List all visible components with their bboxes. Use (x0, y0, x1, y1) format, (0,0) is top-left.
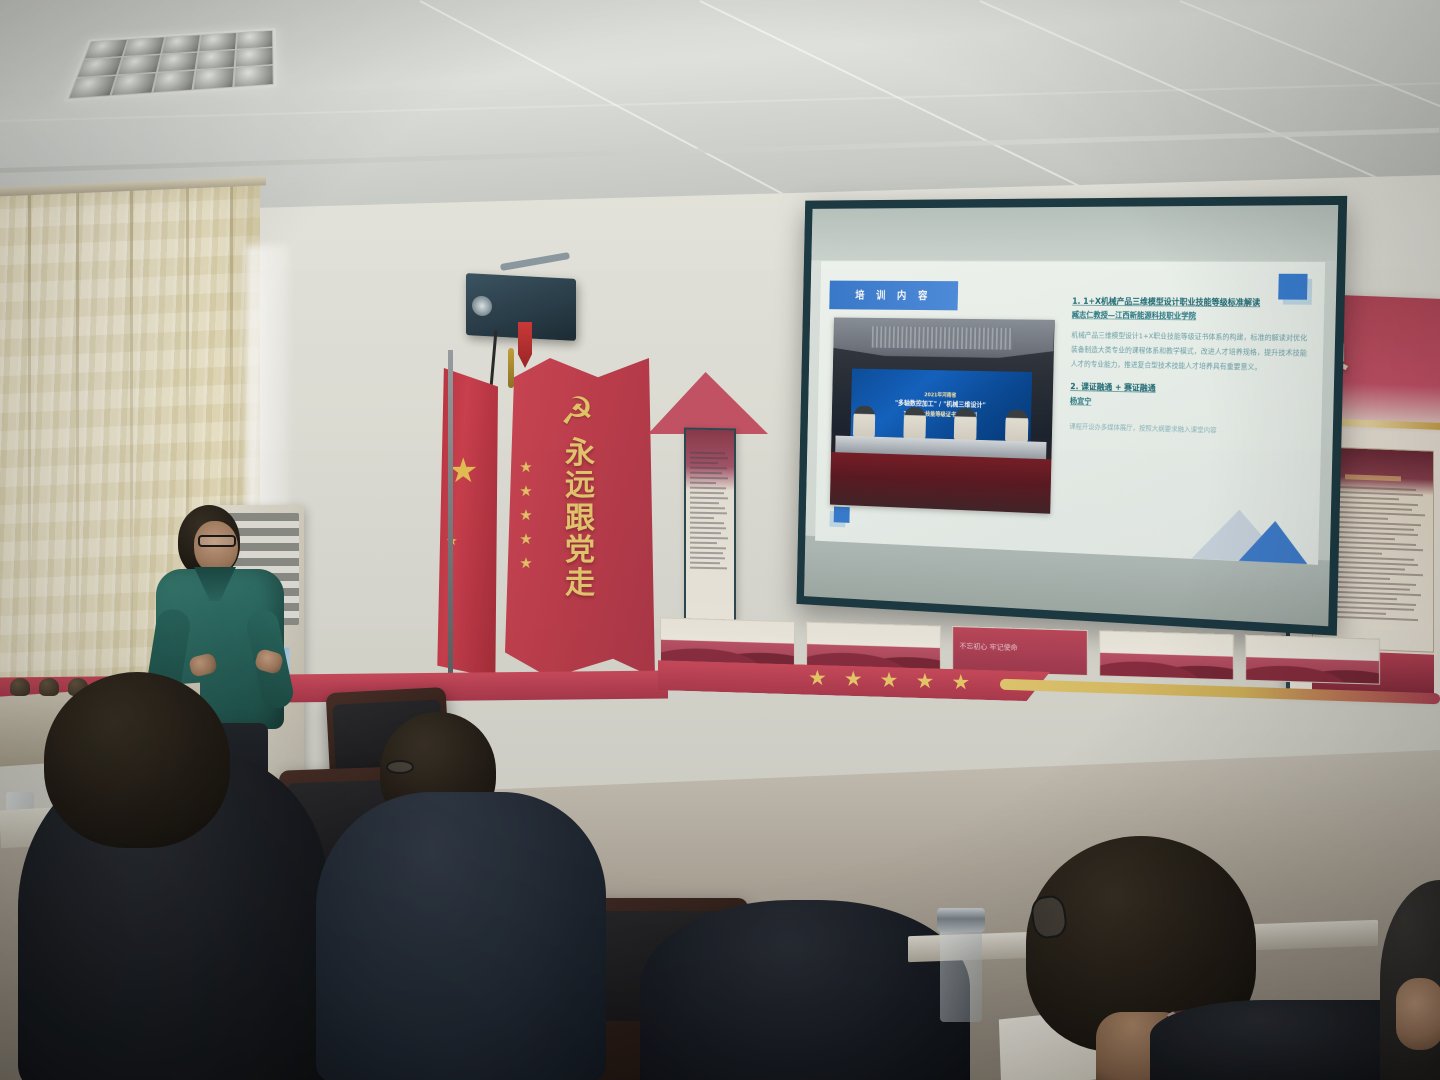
star-icon: ★ (519, 460, 532, 475)
hammer-sickle-icon: ☭ (556, 392, 598, 432)
flask-cap-icon (937, 908, 985, 932)
wall-panel (660, 617, 795, 667)
presentation-slide: 培 训 内 容 2021年河南省 "多轴数控加工" / "机械三维设计" 1+X… (815, 261, 1326, 564)
presenter-face (194, 521, 238, 573)
attendee-far-right-hand (1396, 978, 1440, 1050)
slide-decor-square-bottomleft (834, 506, 850, 522)
slide-section-tag: 培 训 内 容 (829, 281, 958, 310)
party-slogan-text: 永远跟党走 (558, 438, 602, 600)
wall-info-board-small (684, 427, 736, 633)
screen-frame: 培 训 内 容 2021年河南省 "多轴数控加工" / "机械三维设计" 1+X… (796, 196, 1347, 636)
attendee-bottom-center (640, 900, 970, 1080)
board-text-lines (690, 452, 730, 570)
photo-stage-floor (830, 452, 1051, 514)
wall-panel-labelled: 不忘初心 牢记使命 (952, 626, 1087, 676)
vacuum-flask[interactable] (940, 926, 982, 1022)
wall-panel (1099, 630, 1234, 680)
banner-pole (508, 348, 514, 388)
star-icon: ★ (915, 671, 934, 694)
slide-section1-heading: 1. 1+X机械产品三维模型设计职业技能等级标准解读 (1072, 297, 1308, 312)
projector-lens-icon (472, 295, 492, 316)
star-icon: ★ (844, 669, 863, 692)
attendee-front-left-head (44, 672, 230, 848)
presenter-glasses-icon (198, 535, 236, 547)
projection-screen[interactable]: 培 训 内 容 2021年河南省 "多轴数控加工" / "机械三维设计" 1+X… (796, 196, 1347, 636)
attendee-mid-left (316, 792, 606, 1080)
flagpole (448, 350, 453, 680)
slide-section1-body: 机械产品三维模型设计1+X职业技能等级证书体系的构建，标准的解读对优化装备制造大… (1071, 329, 1308, 376)
slide-embedded-photo: 2021年河南省 "多轴数控加工" / "机械三维设计" 1+X职业技能等级证书… (830, 317, 1054, 514)
star-icon: ★ (808, 668, 827, 691)
led-line-1: 2021年河南省 (924, 390, 956, 398)
wall-panel (1245, 635, 1380, 685)
star-icon: ★ (519, 508, 532, 523)
sill-object (39, 678, 59, 696)
star-icon: ★ (519, 532, 532, 547)
slide-decor-square-topright (1278, 274, 1307, 300)
room-scene: ★ ★ ☭ 永远跟党走 ★ ★ ★ ★ ★ 员 (0, 0, 1440, 1080)
slide-text-column: 1. 1+X机械产品三维模型设计职业技能等级标准解读 臧志仁教授—江西新能源科技… (1067, 297, 1308, 534)
sill-object (10, 678, 30, 696)
slide-footer-note: 课程开设办多媒体展厅，按照大纲要求融入课堂内容 (1069, 421, 1305, 437)
slide-section1-speaker: 臧志仁教授—江西新能源科技职业学院 (1072, 310, 1308, 324)
star-icon: ★ (951, 672, 970, 695)
star-icon: ★ (519, 556, 532, 571)
star-icon: ★ (880, 670, 899, 693)
projection-letterbox-top (811, 205, 1338, 261)
attendee-mid-left-glasses-icon (386, 760, 414, 774)
banner-stars: ★ ★ ★ ★ ★ (512, 460, 540, 571)
wall-panel (806, 622, 941, 672)
screen-surface: 培 训 内 容 2021年河南省 "多轴数控加工" / "机械三维设计" 1+X… (804, 205, 1338, 626)
photo-ceiling (833, 317, 1055, 374)
star-icon: ★ (519, 484, 532, 499)
wall-panel-label: 不忘初心 牢记使命 (959, 641, 1017, 653)
